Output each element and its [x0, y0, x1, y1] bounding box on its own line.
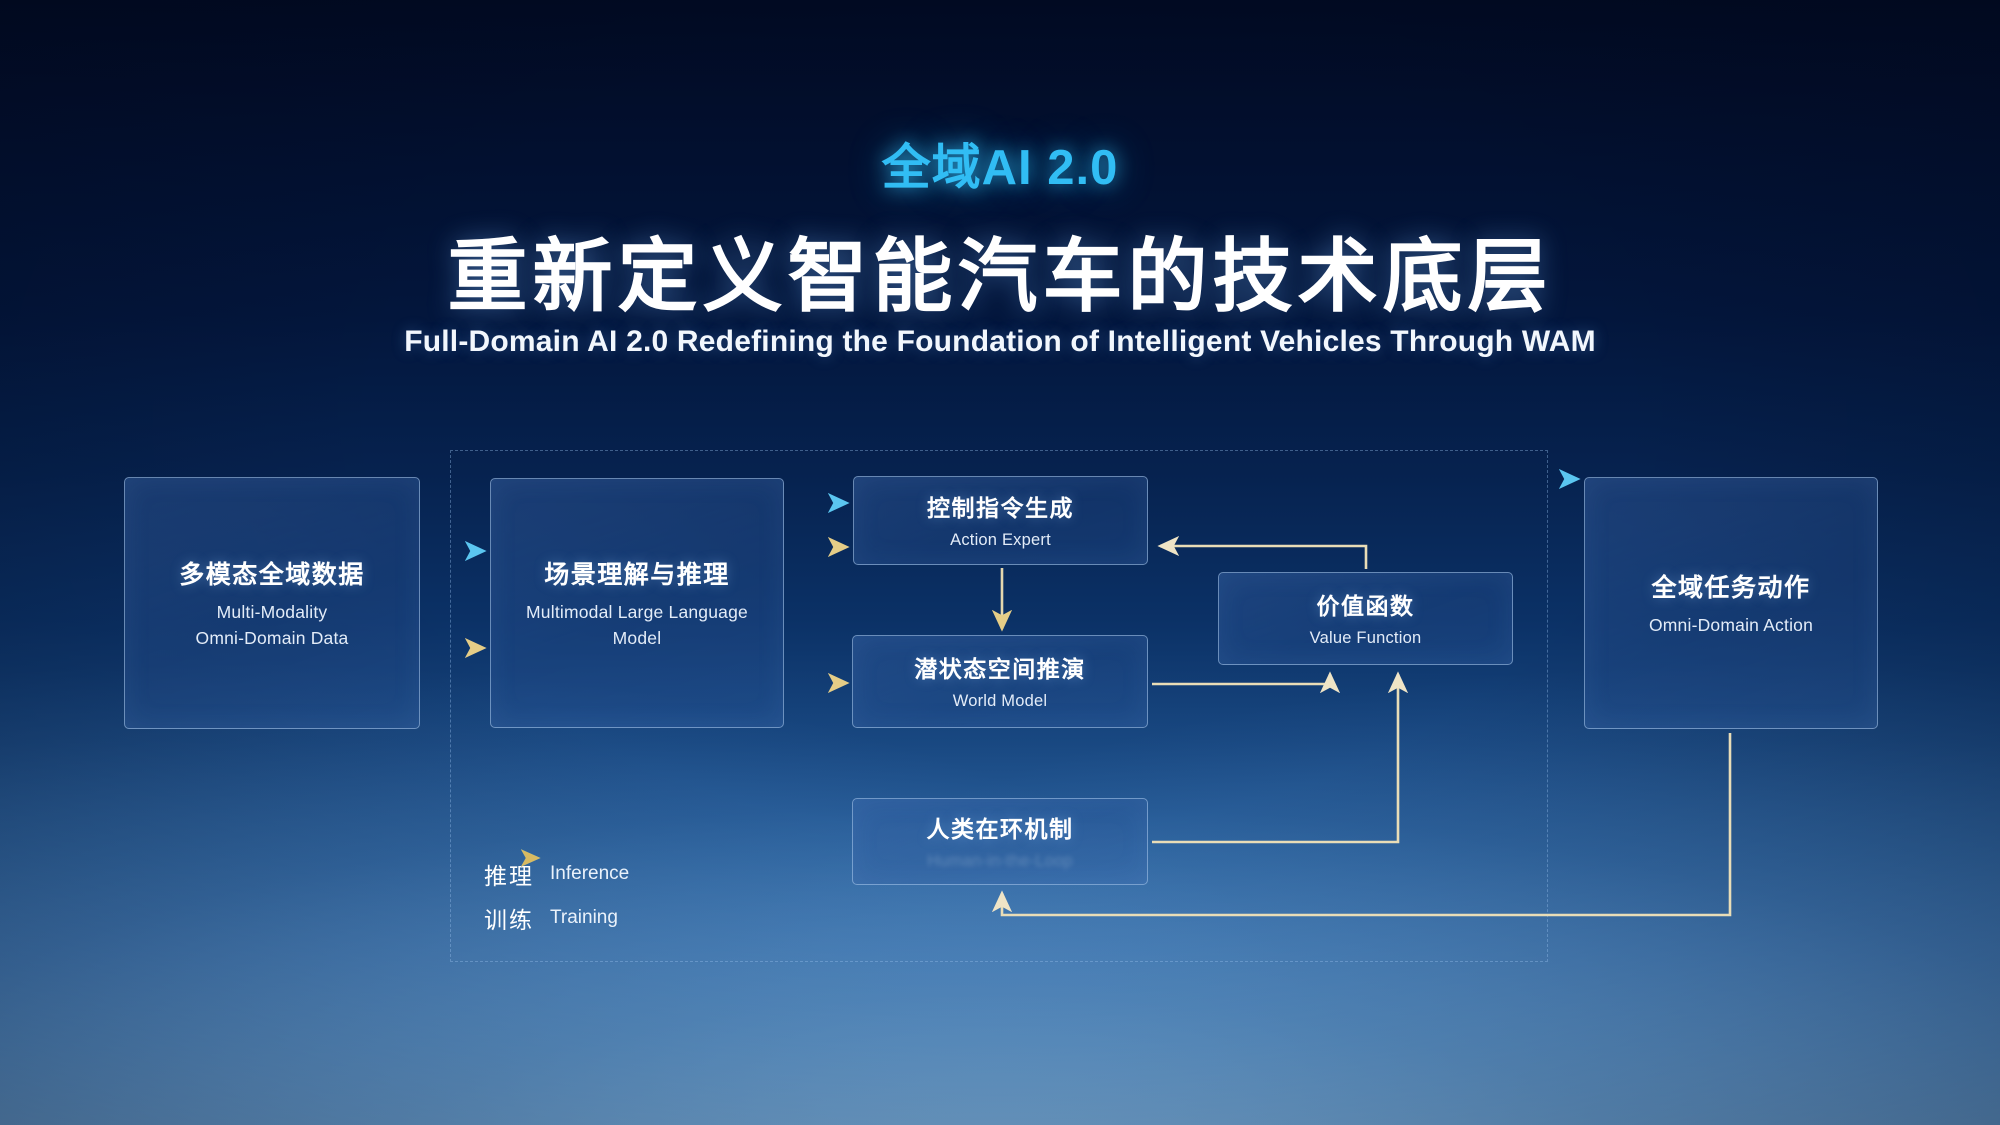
node-title-cn: 控制指令生成	[927, 489, 1074, 523]
legend-label-cn: 推理	[484, 857, 550, 891]
node-action-expert[interactable]: 控制指令生成 Action Expert	[853, 476, 1148, 565]
legend-label-en: Inference	[550, 863, 629, 885]
node-en-line2: Omni-Domain Data	[196, 628, 349, 648]
node-multi-modality-data[interactable]: 多模态全域数据 Multi-Modality Omni-Domain Data	[124, 477, 420, 729]
node-multimodal-llm[interactable]: 场景理解与推理 Multimodal Large Language Model	[490, 478, 784, 728]
node-title-en: Value Function	[1310, 627, 1422, 651]
node-title-en: Multimodal Large Language Model	[526, 600, 748, 651]
legend-label-en: Training	[550, 907, 618, 929]
node-human-in-the-loop[interactable]: 人类在环机制 Human-in-the-Loop	[852, 798, 1148, 885]
node-title-cn: 多模态全域数据	[179, 555, 365, 591]
node-title-en: Omni-Domain Action	[1649, 613, 1813, 638]
node-value-function[interactable]: 价值函数 Value Function	[1218, 572, 1513, 665]
node-en-line1: Multi-Modality	[217, 602, 328, 622]
node-title-cn: 潜状态空间推演	[914, 650, 1086, 684]
node-title-en: Multi-Modality Omni-Domain Data	[196, 600, 349, 651]
node-title-en: Action Expert	[950, 529, 1051, 553]
node-en-line1: Multimodal Large Language	[526, 602, 748, 622]
node-title-cn: 场景理解与推理	[544, 555, 730, 591]
legend-item-training: 训练 Training	[484, 896, 629, 940]
node-omni-domain-action[interactable]: 全域任务动作 Omni-Domain Action	[1584, 477, 1878, 729]
node-title-en: Human-in-the-Loop	[927, 850, 1073, 874]
node-title-cn: 价值函数	[1317, 587, 1415, 621]
node-world-model[interactable]: 潜状态空间推演 World Model	[852, 635, 1148, 728]
diagram-legend: 推理 Inference 训练 Training	[484, 852, 629, 940]
node-title-cn: 人类在环机制	[927, 810, 1074, 844]
node-title-cn: 全域任务动作	[1651, 568, 1810, 604]
node-title-en: World Model	[953, 690, 1048, 714]
architecture-diagram: 多模态全域数据 Multi-Modality Omni-Domain Data …	[0, 0, 2000, 1125]
legend-item-inference: 推理 Inference	[484, 852, 629, 896]
legend-label-cn: 训练	[484, 901, 550, 935]
node-en-line2: Model	[613, 628, 662, 648]
